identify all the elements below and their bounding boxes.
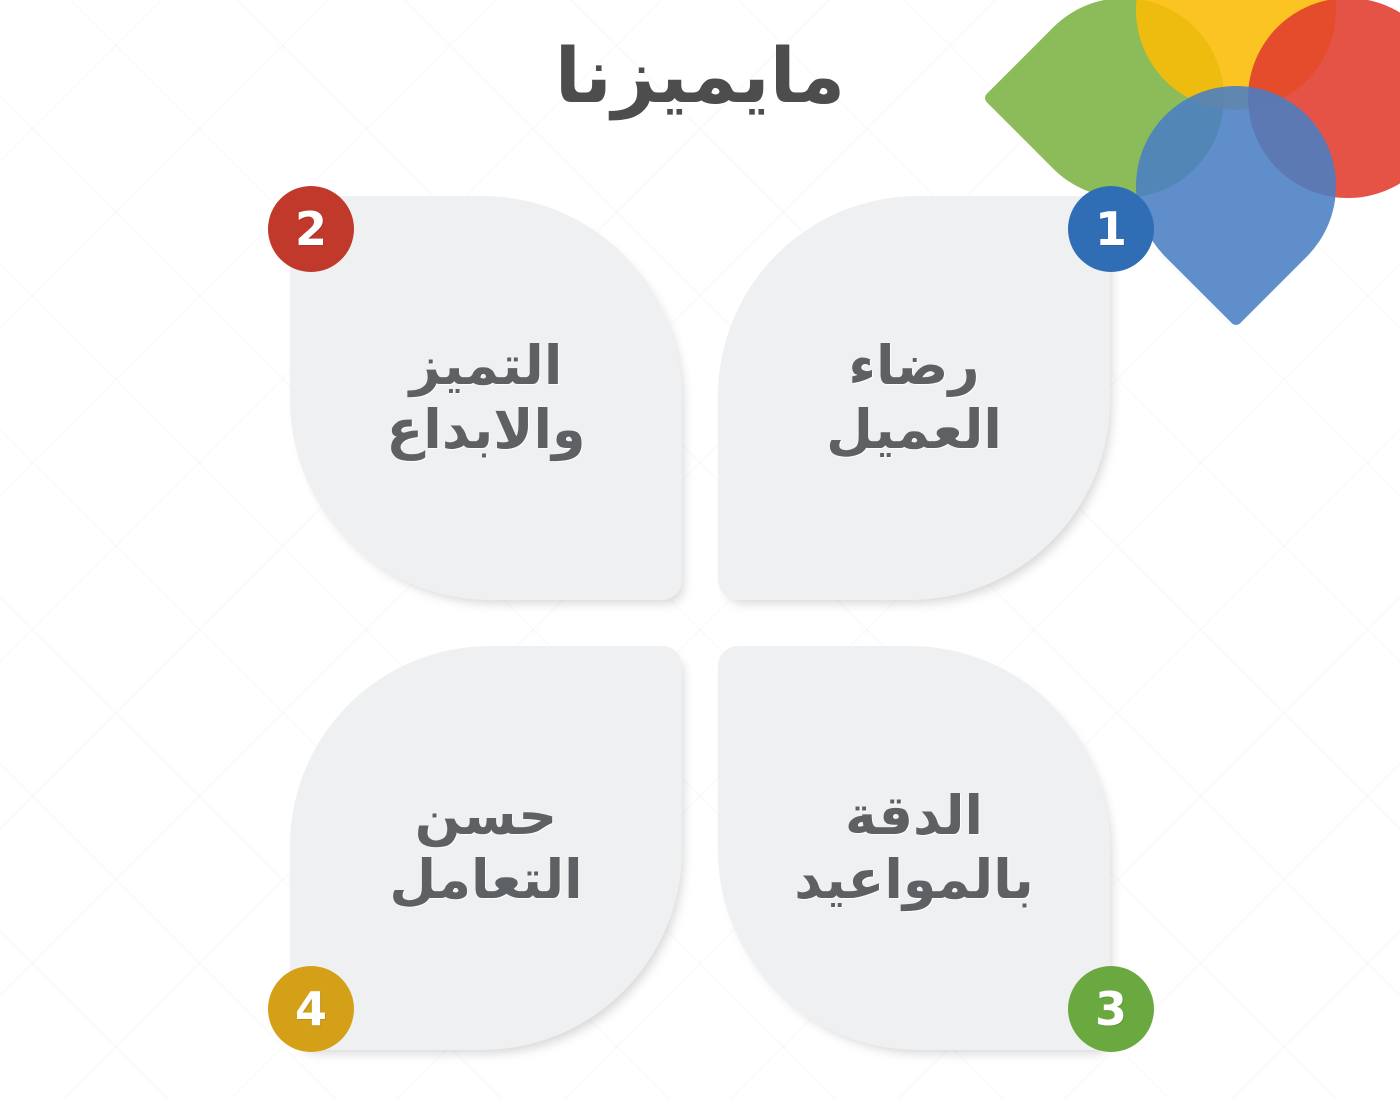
badge-number-1[interactable]: 1 xyxy=(1068,186,1154,272)
background-chevron-pattern xyxy=(0,0,1400,1099)
feature-card-2-label: التميز والابداع xyxy=(360,334,611,461)
feature-card-1[interactable]: رضاء العميل xyxy=(718,196,1110,600)
feature-card-3[interactable]: الدقة بالمواعيد xyxy=(718,646,1110,1050)
badge-number-4[interactable]: 4 xyxy=(268,966,354,1052)
badge-number-3[interactable]: 3 xyxy=(1068,966,1154,1052)
feature-card-3-label: الدقة بالمواعيد xyxy=(768,784,1060,911)
feature-card-2[interactable]: التميز والابداع xyxy=(290,196,682,600)
feature-card-1-label: رضاء العميل xyxy=(800,334,1028,461)
slide-canvas: مايميزنا التميز والابداع رضاء العميل حسن… xyxy=(0,0,1400,1099)
badge-number-2[interactable]: 2 xyxy=(268,186,354,272)
page-title: مايميزنا xyxy=(0,34,1400,118)
feature-card-4-label: حسن التعامل xyxy=(363,784,608,911)
